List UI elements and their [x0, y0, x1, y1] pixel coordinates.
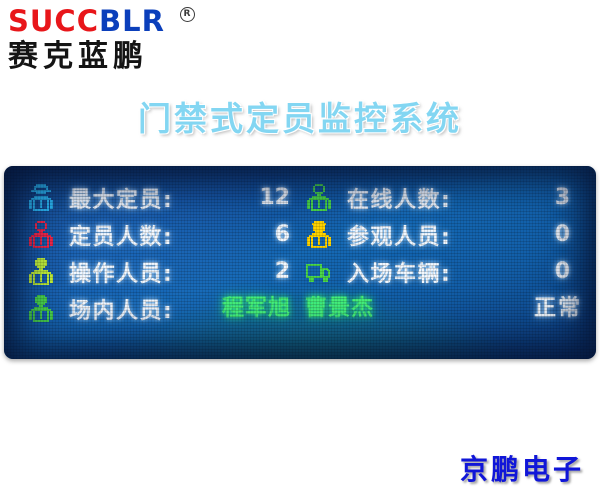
onsite-name: 程军旭: [222, 296, 291, 321]
led-field-onsite-personnel: 场内人员:: [26, 290, 173, 327]
logo-chinese-name: 赛克蓝鹏: [8, 40, 238, 74]
footer-brand: 京鹏电子: [460, 448, 584, 488]
led-row-onsite: 场内人员: 程军旭曹景杰 正常: [4, 290, 596, 327]
onsite-name: 曹景杰: [305, 296, 374, 321]
led-field-vehicles-entered: 入场车辆: 0: [304, 253, 584, 290]
led-value: 12: [259, 179, 290, 216]
led-value: 2: [275, 253, 290, 290]
registered-trademark-icon: R: [180, 7, 195, 22]
person-icon: [26, 256, 56, 287]
led-value: 3: [555, 179, 570, 216]
led-field-visitor-count: 参观人员: 0: [304, 216, 584, 253]
led-label: 场内人员:: [69, 293, 173, 325]
led-label: 在线人数:: [347, 182, 451, 214]
truck-icon: [304, 256, 334, 287]
led-field-online-count: 在线人数: 3: [304, 179, 584, 216]
person-icon: [304, 182, 334, 213]
led-label: 入场车辆:: [347, 256, 451, 288]
led-field-quota-count: 定员人数: 6: [26, 216, 296, 253]
person-icon: [26, 293, 56, 324]
led-label: 最大定员:: [69, 182, 173, 214]
led-value: 0: [555, 216, 570, 253]
person-visitor-icon: [304, 219, 334, 250]
led-row: 定员人数: 6: [4, 216, 596, 253]
led-label: 参观人员:: [347, 219, 451, 251]
person-icon: [26, 219, 56, 250]
company-logo: SUCCBLR R 赛克蓝鹏: [8, 6, 238, 76]
person-hardhat-icon: [26, 182, 56, 213]
led-rows-container: 最大定员: 12: [4, 179, 596, 349]
logo-wordmark: SUCCBLR R: [8, 6, 238, 36]
page-title: 门禁式定员监控系统: [0, 92, 600, 140]
logo-wordmark-red: SUCC: [8, 4, 99, 38]
led-row: 最大定员: 12: [4, 179, 596, 216]
onsite-personnel-names: 程军旭曹景杰: [222, 290, 374, 327]
led-label: 定员人数:: [69, 219, 173, 251]
led-row: 操作人员: 2: [4, 253, 596, 290]
led-label: 操作人员:: [69, 256, 173, 288]
led-field-operator-count: 操作人员: 2: [26, 253, 296, 290]
led-display-panel: 最大定员: 12: [4, 166, 596, 359]
led-value: 0: [555, 253, 570, 290]
status-badge: 正常: [534, 290, 582, 327]
led-value: 6: [275, 216, 290, 253]
led-field-max-capacity: 最大定员: 12: [26, 179, 296, 216]
logo-wordmark-blue: BLR: [99, 4, 165, 38]
